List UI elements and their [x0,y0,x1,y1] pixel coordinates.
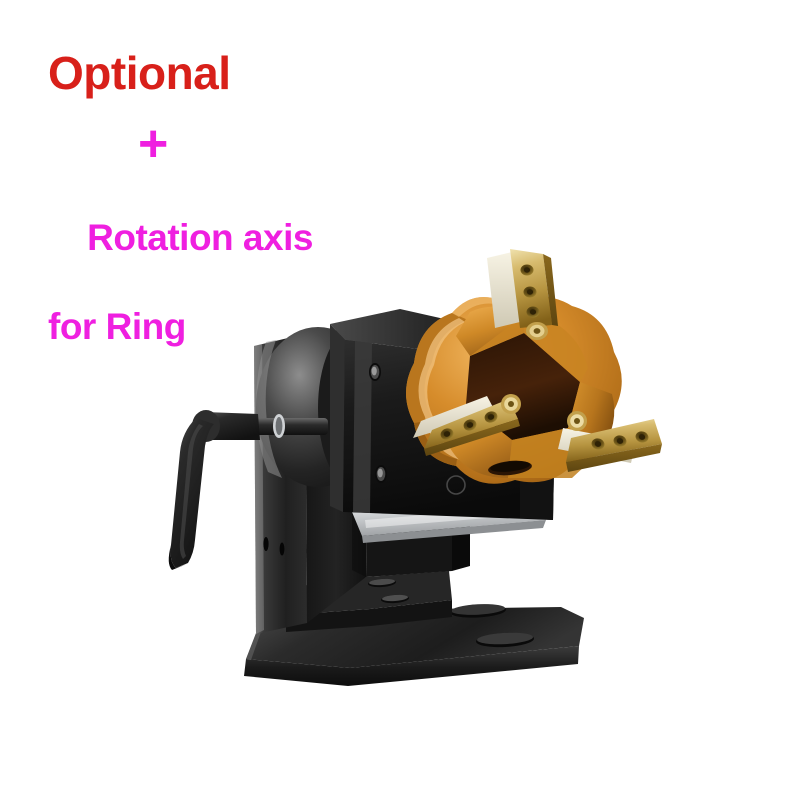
annotation-plus-icon: + [138,118,168,170]
screenshot-canvas: Optional + Rotation axis for Ring [0,0,800,800]
jaw-extension-hole-bore [527,289,533,294]
housing-screw [375,465,387,483]
column-pin-hole [280,543,285,556]
column-pin-hole [263,537,268,551]
housing-screw [369,363,381,381]
annotation-optional: Optional [48,50,231,96]
annotation-subject-line2: for Ring [48,305,313,349]
jaw-clamp-screw [501,394,521,414]
jaw-extension-hole-bore [530,309,536,314]
housing-left-face [330,324,345,512]
jaw-clamp-screw [526,322,548,340]
jaw-clamp-screw [567,411,587,431]
jaw-extension-hole-bore [524,267,530,272]
annotation-subject: Rotation axis for Ring [48,172,313,438]
housing-seam-highlight [353,341,372,513]
annotation-subject-line1: Rotation axis [87,217,313,258]
